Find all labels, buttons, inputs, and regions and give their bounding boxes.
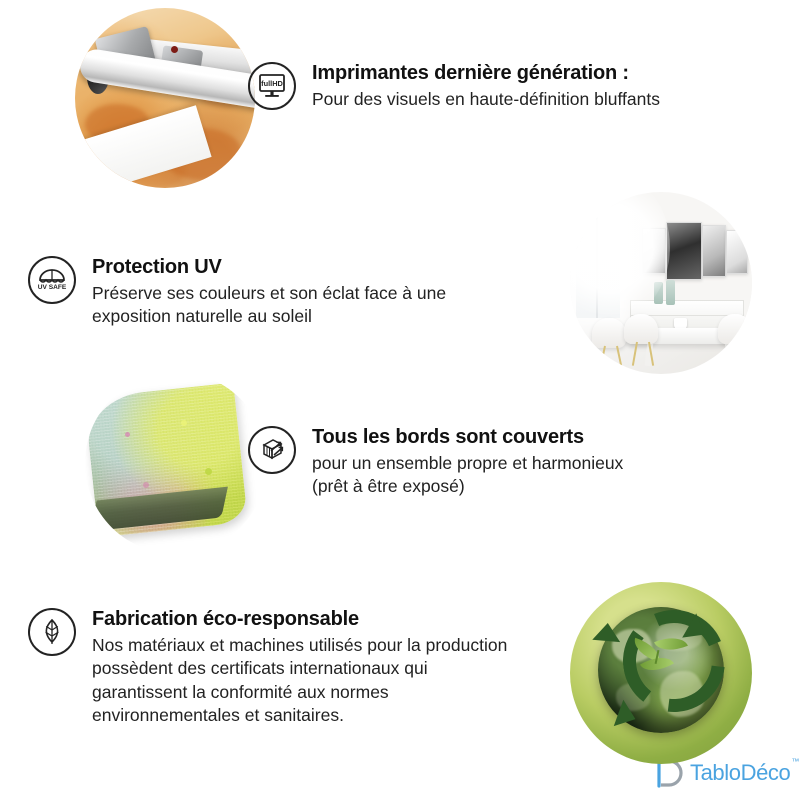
svg-text:fullHD: fullHD — [261, 79, 283, 88]
feature-covered-edges: Tous les bords sont couverts pour un ens… — [248, 426, 623, 499]
feature-description: Préserve ses couleurs et son éclat face … — [92, 282, 446, 329]
canvas-corner-colorful-photo — [85, 372, 267, 554]
feature-eco-manufacturing: Fabrication éco-responsable Nos matériau… — [28, 608, 507, 727]
feature-description: Pour des visuels en haute-définition blu… — [312, 88, 660, 111]
feature-line: exposition naturelle au soleil — [92, 305, 446, 328]
feature-title: Fabrication éco-responsable — [92, 608, 507, 631]
feature-line: Préserve ses couleurs et son éclat face … — [92, 282, 446, 305]
logo-wordmark: TabloDéco — [690, 760, 790, 786]
feature-line: garantissent la conformité aux normes — [92, 681, 507, 704]
svg-text:UV SAFE: UV SAFE — [38, 284, 67, 291]
feature-description: Nos matériaux et machines utilisés pour … — [92, 634, 507, 727]
feature-title: Imprimantes dernière génération : — [312, 62, 660, 85]
feature-line: possèdent des certificats internationaux… — [92, 657, 507, 680]
feature-description: pour un ensemble propre et harmonieux (p… — [312, 452, 623, 499]
feature-line: Nos matériaux et machines utilisés pour … — [92, 634, 507, 657]
feature-printers: fullHD Imprimantes dernière génération :… — [248, 62, 660, 111]
leaf-icon — [28, 608, 76, 656]
wrapped-canvas-edge-icon — [248, 426, 296, 474]
feature-title: Tous les bords sont couverts — [312, 426, 623, 449]
feature-line: Pour des visuels en haute-définition blu… — [312, 88, 660, 111]
feature-text: Tous les bords sont couverts pour un ens… — [312, 426, 623, 499]
printer-roller-map-photo — [75, 8, 255, 188]
feature-title: Protection UV — [92, 256, 446, 279]
feature-text: Imprimantes dernière génération : Pour d… — [312, 62, 660, 111]
eco-globe-recycling-photo — [570, 582, 752, 764]
logo-trademark: ™ — [791, 757, 799, 766]
feature-text: Fabrication éco-responsable Nos matériau… — [92, 608, 507, 727]
uv-safe-umbrella-icon: UV SAFE — [28, 256, 76, 304]
feature-line: environnementales et sanitaires. — [92, 704, 507, 727]
feature-line: pour un ensemble propre et harmonieux — [312, 452, 623, 475]
fullhd-monitor-icon: fullHD — [248, 62, 296, 110]
feature-line: (prêt à être exposé) — [312, 475, 623, 498]
feature-uv-protection: UV SAFE Protection UV Préserve ses coule… — [28, 256, 446, 329]
feature-text: Protection UV Préserve ses couleurs et s… — [92, 256, 446, 329]
infographic-page: fullHD Imprimantes dernière génération :… — [0, 0, 800, 800]
white-dining-room-wall-art-photo — [570, 192, 752, 374]
